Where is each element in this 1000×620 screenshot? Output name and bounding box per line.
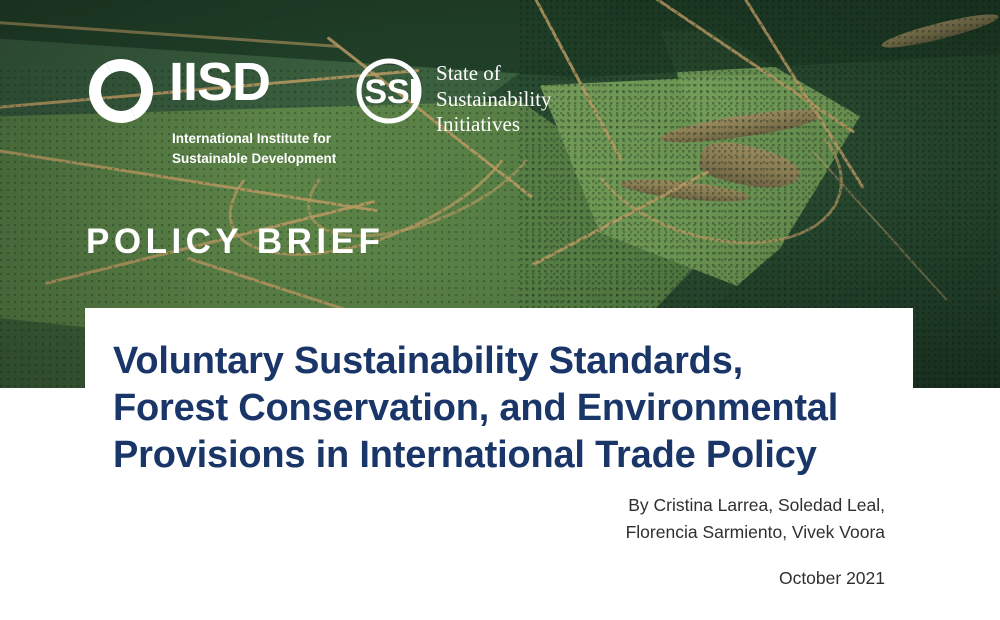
title-panel: Voluntary Sustainability Standards, Fore… bbox=[85, 308, 913, 501]
iisd-circle-mark bbox=[85, 55, 157, 127]
title-line-3: Provisions in International Trade Policy bbox=[113, 432, 913, 479]
ssi-circle-mark: SS bbox=[353, 55, 425, 127]
ssi-name: State of Sustainability Initiatives bbox=[436, 61, 552, 138]
ssi-logo: SS State of Sustainability Initiatives bbox=[353, 55, 552, 138]
logo-row: IISD International Institute for Sustain… bbox=[85, 55, 552, 138]
author-line-2: Florencia Sarmiento, Vivek Voora bbox=[626, 519, 885, 546]
svg-text:SS: SS bbox=[364, 73, 409, 111]
ssi-name-line-3: Initiatives bbox=[436, 112, 552, 138]
byline-block: By Cristina Larrea, Soledad Leal, Floren… bbox=[626, 492, 885, 589]
title-line-1: Voluntary Sustainability Standards, bbox=[113, 338, 913, 385]
ssi-name-line-1: State of bbox=[436, 61, 552, 87]
iisd-wordmark: IISD bbox=[169, 57, 270, 109]
author-line-1: By Cristina Larrea, Soledad Leal, bbox=[626, 492, 885, 519]
iisd-tagline-line-1: International Institute for bbox=[172, 129, 336, 149]
document-kicker: POLICY BRIEF bbox=[86, 222, 384, 262]
title-line-2: Forest Conservation, and Environmental bbox=[113, 385, 913, 432]
page-title: Voluntary Sustainability Standards, Fore… bbox=[85, 338, 913, 479]
policy-brief-cover: IISD International Institute for Sustain… bbox=[0, 0, 1000, 620]
publication-date: October 2021 bbox=[626, 568, 885, 589]
iisd-tagline-line-2: Sustainable Development bbox=[172, 149, 336, 169]
iisd-tagline: International Institute for Sustainable … bbox=[172, 129, 336, 168]
iisd-logo: IISD International Institute for Sustain… bbox=[85, 55, 270, 127]
ssi-name-line-2: Sustainability bbox=[436, 87, 552, 113]
